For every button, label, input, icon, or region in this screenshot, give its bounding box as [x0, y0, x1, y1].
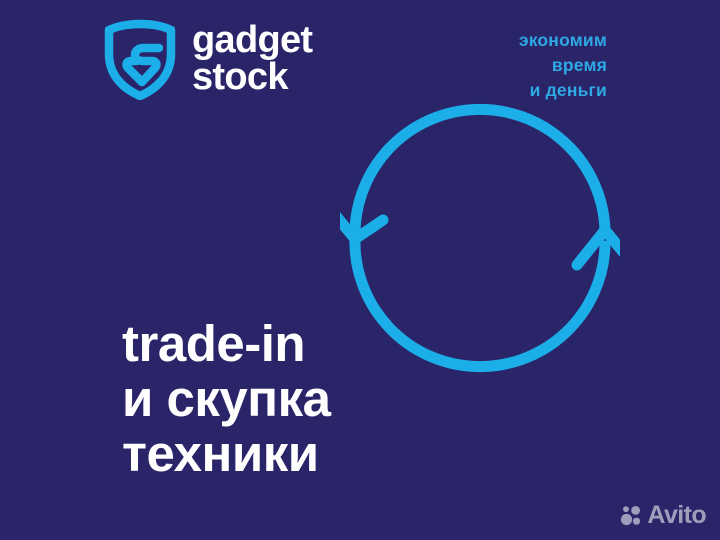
headline-line-1: trade-in [122, 316, 330, 371]
gadget-stock-shield-icon [104, 18, 176, 100]
brand-logo-lockup: gadget stock [104, 18, 312, 100]
tagline: экономим время и деньги [519, 28, 607, 103]
headline-line-3: техники [122, 426, 330, 481]
circular-refresh-arrows-icon [340, 98, 620, 378]
tagline-line-1: экономим [519, 28, 607, 53]
headline-line-2: и скупка [122, 371, 330, 426]
avito-watermark: Avito [620, 503, 706, 528]
wordmark-line-stock: stock [192, 59, 312, 96]
avito-dots-icon [620, 505, 642, 527]
tagline-line-2: время [519, 53, 607, 78]
brand-wordmark: gadget stock [192, 22, 312, 96]
avito-wordmark: Avito [647, 503, 706, 528]
wordmark-line-gadget: gadget [192, 22, 312, 59]
promo-banner: gadget stock экономим время и деньги tra… [0, 0, 720, 540]
headline: trade-in и скупка техники [122, 316, 330, 481]
